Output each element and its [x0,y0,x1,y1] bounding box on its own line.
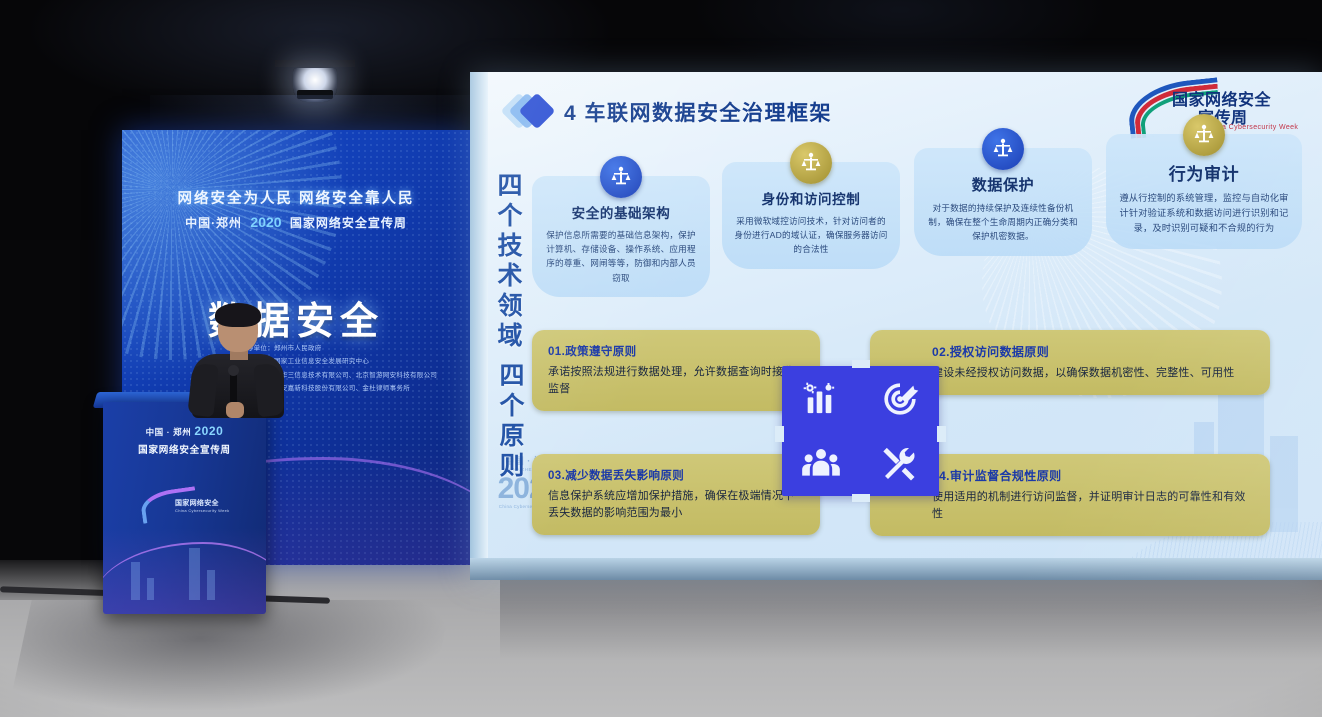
tech-card[interactable]: 行为审计 遵从行控制的系统管理，监控与自动化审计针对验证系统和数据访问进行识别和… [1106,134,1302,249]
podium-event: 国家网络安全宣传周 [103,442,266,456]
banner-eventline: 中国·郑州 2020 国家网络安全宣传周 [122,214,470,231]
tech-card-title: 数据保护 [926,174,1080,195]
principle-name: 减少数据丢失影响原则 [565,470,684,482]
principle-number: 01. [548,346,565,358]
slide-header: 4 车联网数据安全治理框架 [510,94,832,130]
people-group-icon [801,444,841,484]
principle-title: 03.减少数据丢失影响原则 [548,467,804,483]
tools-icon [880,444,920,484]
tech-card[interactable]: 身份和访问控制 采用微软域控访问技术，针对访问者的身份进行AD的域认证，确保服务… [722,162,900,269]
tech-card-body: 采用微软域控访问技术，针对访问者的身份进行AD的域认证，确保服务器访问的合法性 [734,214,888,257]
projection-screen-slide: 中国 · 郑州 CHINA ZHENGZHOU 2020 China Cyber… [470,72,1322,580]
podium-logo: 国家网络安全 China Cybersecurity Week [141,484,233,524]
speaker-hand [226,402,244,418]
podium-logo-text: 国家网络安全 China Cybersecurity Week [175,498,229,513]
principle-title: 01.政策遵守原则 [548,343,804,359]
tech-card-title: 安全的基础架构 [544,202,698,222]
principle-number: 02. [932,345,950,359]
slide-title: 4 车联网数据安全治理框架 [564,97,832,127]
principle-box[interactable]: 01.政策遵守原则 承诺按照法规进行数据处理，允许数据查询时接收监督 [532,330,820,411]
notch-top [852,360,870,368]
tech-cards-row: 安全的基础架构 保护信息所需要的基础信息架构，保护计算机、存储设备、操作系统、应… [532,140,1302,330]
floor-shadow-right [500,570,1322,660]
stage-scene: 网络安全为人民 网络安全靠人民 中国·郑州 2020 国家网络安全宣传周 数据安… [0,0,1322,717]
principle-number: 03. [548,470,565,482]
governance-person-icon [790,142,832,184]
screen-bottom-bezel [470,558,1322,580]
principle-body: 信息保护系统应增加保护措施，确保在极端情况下丢失数据的影响范围为最小 [548,488,804,522]
watermark-building [1270,436,1298,532]
notch-left [775,426,784,442]
target-icon [880,379,920,419]
diamond-bullet-icon [510,94,554,130]
podium-year: 2020 [194,424,223,438]
notch-bottom [852,494,870,502]
side-label-tech-domains: 四个技术领域 [490,172,526,352]
tech-card-body: 对于数据的持续保护及连续性备份机制，确保在整个生命周期内正确分类和保护机密数据。 [926,201,1080,244]
center-icon-block [782,366,939,496]
banner-slogan: 网络安全为人民 网络安全靠人民 [122,187,470,208]
principle-box[interactable]: 03.减少数据丢失影响原则 信息保护系统应增加保护措施，确保在极端情况下丢失数据… [532,454,820,535]
podium-logo-en: China Cybersecurity Week [175,508,229,513]
governance-person-icon [1183,114,1225,156]
stage-light-fixture [275,60,355,116]
notch-right [937,426,946,442]
principle-body: 建设未经授权访问数据，以确保数据机密性、完整性、可用性 [932,365,1254,382]
tech-card-body: 遵从行控制的系统管理，监控与自动化审计针对验证系统和数据访问进行识别和记录，及时… [1118,191,1290,237]
podium-place: 中国 · 郑州 [146,427,192,437]
tech-card[interactable]: 数据保护 对于数据的持续保护及连续性备份机制，确保在整个生命周期内正确分类和保护… [914,148,1092,256]
principle-body: 使用适用的机制进行访问监督，并证明审计日志的可靠性和有效性 [932,489,1254,523]
speaker-person [186,306,290,416]
podium-logo-line1: 国家网络安全 [175,500,219,507]
principle-title: 02.授权访问数据原则 [932,343,1254,360]
chart-gear-icon [801,379,841,419]
tech-card[interactable]: 安全的基础架构 保护信息所需要的基础信息架构，保护计算机、存储设备、操作系统、应… [532,176,710,297]
governance-person-icon [982,128,1024,170]
screen-left-bezel [470,72,488,580]
principle-body: 承诺按照法规进行数据处理，允许数据查询时接收监督 [548,364,804,398]
principle-name: 授权访问数据原则 [950,345,1049,359]
truss-bar [275,60,355,67]
speaker-arm-left [187,363,218,417]
principle-title: 04.审计监督合规性原则 [932,467,1254,484]
tech-card-body: 保护信息所需要的基础信息架构，保护计算机、存储设备、操作系统、应用程序的尊重、网… [544,228,698,285]
side-label-principles: 四个原则 [492,362,528,482]
banner-topic-title: 数据安全 [122,290,470,345]
banner-event: 国家网络安全宣传周 [290,216,407,230]
tech-card-title: 行为审计 [1118,160,1290,185]
principle-name: 审计监督合规性原则 [950,469,1062,483]
podium-place-year: 中国 · 郑州 2020 [103,424,266,438]
governance-person-icon [600,156,642,198]
banner-place: 中国·郑州 [185,216,242,230]
speaker-hair [215,303,261,327]
podium: 中国 · 郑州 2020 国家网络安全宣传周 国家网络安全 China Cybe… [103,402,266,614]
tech-card-title: 身份和访问控制 [734,188,888,208]
principle-name: 政策遵守原则 [565,346,636,358]
podium-floor-shadow [8,600,451,710]
spotlight-lamp-icon [293,68,337,102]
banner-year: 2020 [250,214,281,230]
